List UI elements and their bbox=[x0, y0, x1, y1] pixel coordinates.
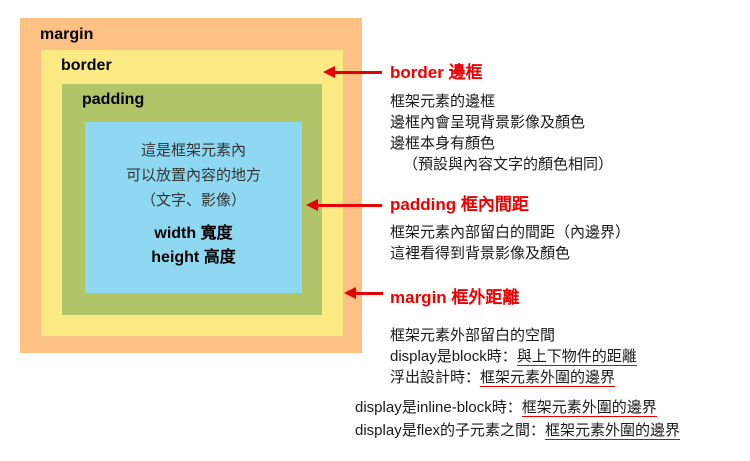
arrow-to-margin-icon bbox=[355, 292, 383, 295]
content-line-1: 這是框架元素內 bbox=[85, 138, 302, 163]
border-box: border padding 這是框架元素內 可以放置內容的地方 （文字、影像）… bbox=[41, 50, 343, 336]
content-width-label: width 寬度 bbox=[85, 222, 302, 246]
annotation-border-line-3: 邊框本身有顏色 bbox=[390, 133, 613, 154]
margin-box-label: margin bbox=[40, 26, 93, 44]
annotation-flex-line: display是flex的子元素之間：框架元素外圍的邊界 bbox=[355, 419, 680, 442]
annotation-padding-line-2: 這裡看得到背景影像及顏色 bbox=[390, 243, 630, 264]
arrow-to-border-icon bbox=[334, 71, 382, 74]
padding-box-label: padding bbox=[82, 91, 144, 109]
annotation-flex-underlined: 框架元素外圍的邊界 bbox=[545, 422, 680, 440]
content-line-2: 可以放置內容的地方 bbox=[85, 163, 302, 188]
padding-box: padding 這是框架元素內 可以放置內容的地方 （文字、影像） width … bbox=[62, 84, 322, 315]
annotation-inline-block-line: display是inline-block時：框架元素外圍的邊界 bbox=[355, 396, 680, 419]
annotation-margin: margin 框外距離 框架元素外部留白的空間 display是block時：與… bbox=[390, 283, 637, 388]
annotation-border: border 邊框 框架元素的邊框 邊框內會呈現背景影像及顏色 邊框本身有顏色 … bbox=[390, 58, 613, 175]
annotation-padding-line-1: 框架元素內部留白的間距（內邊界） bbox=[390, 222, 630, 243]
box-model-diagram: margin border padding 這是框架元素內 可以放置內容的地方 … bbox=[0, 0, 750, 461]
content-box: 這是框架元素內 可以放置內容的地方 （文字、影像） width 寬度 heigh… bbox=[85, 122, 302, 293]
annotation-margin-line-2-underlined: 與上下物件的距離 bbox=[517, 348, 637, 366]
content-line-3: （文字、影像） bbox=[85, 188, 302, 213]
annotation-border-line-2: 邊框內會呈現背景影像及顏色 bbox=[390, 112, 613, 133]
content-height-label: height 高度 bbox=[85, 246, 302, 270]
annotation-padding-body: 框架元素內部留白的間距（內邊界） 這裡看得到背景影像及顏色 bbox=[390, 222, 630, 264]
annotation-padding-title: padding 框內間距 bbox=[390, 190, 630, 215]
border-box-label: border bbox=[61, 57, 112, 75]
arrow-to-padding-icon bbox=[317, 204, 382, 207]
annotation-inline-block-underlined: 框架元素外圍的邊界 bbox=[522, 399, 657, 417]
annotation-flex-prefix: display是flex的子元素之間： bbox=[355, 422, 545, 439]
annotation-margin-body: 框架元素外部留白的空間 display是block時：與上下物件的距離 浮出設計… bbox=[390, 325, 637, 388]
annotation-margin-line-3-underlined: 框架元素外圍的邊界 bbox=[480, 369, 615, 387]
annotation-display-modes: display是inline-block時：框架元素外圍的邊界 display是… bbox=[355, 396, 680, 442]
annotation-margin-title: margin 框外距離 bbox=[390, 283, 637, 308]
annotation-border-line-1: 框架元素的邊框 bbox=[390, 91, 613, 112]
annotation-padding: padding 框內間距 框架元素內部留白的間距（內邊界） 這裡看得到背景影像及… bbox=[390, 190, 630, 264]
annotation-margin-line-2: display是block時：與上下物件的距離 bbox=[390, 346, 637, 367]
annotation-margin-line-3: 浮出設計時：框架元素外圍的邊界 bbox=[390, 367, 637, 388]
annotation-border-line-4: （預設與內容文字的顏色相同） bbox=[390, 154, 613, 175]
annotation-border-title: border 邊框 bbox=[390, 58, 613, 83]
annotation-inline-block-prefix: display是inline-block時： bbox=[355, 399, 522, 416]
annotation-margin-line-2-prefix: display是block時： bbox=[390, 348, 517, 365]
content-box-text: 這是框架元素內 可以放置內容的地方 （文字、影像） width 寬度 heigh… bbox=[85, 138, 302, 270]
margin-box: margin border padding 這是框架元素內 可以放置內容的地方 … bbox=[20, 18, 362, 353]
annotation-margin-line-1: 框架元素外部留白的空間 bbox=[390, 325, 637, 346]
annotation-margin-line-3-prefix: 浮出設計時： bbox=[390, 369, 480, 386]
annotation-border-body: 框架元素的邊框 邊框內會呈現背景影像及顏色 邊框本身有顏色 （預設與內容文字的顏… bbox=[390, 91, 613, 175]
content-dimensions: width 寬度 height 高度 bbox=[85, 222, 302, 270]
